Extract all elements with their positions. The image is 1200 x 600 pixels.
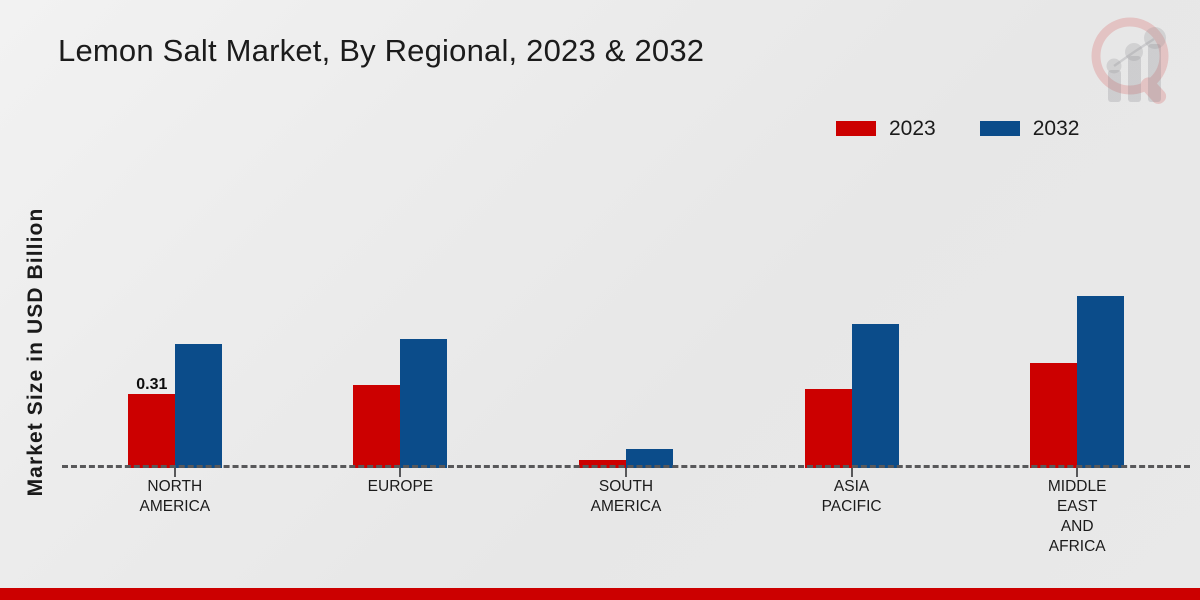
legend-item-2032[interactable]: 2032 (980, 118, 1080, 139)
legend-label-2023: 2023 (889, 118, 936, 139)
bar-group-europe: EUROPE (288, 165, 514, 468)
x-axis-baseline (62, 465, 1190, 468)
page-title: Lemon Salt Market, By Regional, 2023 & 2… (58, 33, 704, 69)
bar-group-south-america: SOUTH AMERICA (513, 165, 739, 468)
bar-2023-north-america[interactable] (128, 394, 175, 468)
market-research-future-logo (1078, 8, 1186, 112)
chart-canvas: Lemon Salt Market, By Regional, 2023 & 2… (0, 0, 1200, 600)
y-axis-title: Market Size in USD Billion (24, 162, 48, 542)
bottom-accent-stripe (0, 588, 1200, 600)
bars-north-america (128, 165, 222, 468)
bar-group-middle-east-and-africa: MIDDLE EAST AND AFRICA (964, 165, 1190, 468)
bars-middle-east-and-africa (1030, 165, 1124, 468)
legend-swatch-2032 (980, 121, 1020, 136)
bars-europe (353, 165, 447, 468)
plot-area: 0.31 NORTH AMERICA EUROPE SOUTH AMERICA (62, 165, 1190, 468)
bar-2023-asia-pacific[interactable] (805, 389, 852, 468)
x-label-south-america: SOUTH AMERICA (591, 477, 662, 517)
bars-asia-pacific (805, 165, 899, 468)
legend-label-2032: 2032 (1033, 118, 1080, 139)
bar-2032-north-america[interactable] (175, 344, 222, 468)
x-label-europe: EUROPE (368, 477, 433, 497)
x-tick-middle-east-and-africa (1076, 468, 1078, 477)
bar-2032-asia-pacific[interactable] (852, 324, 899, 468)
bar-group-asia-pacific: ASIA PACIFIC (739, 165, 965, 468)
legend-item-2023[interactable]: 2023 (836, 118, 936, 139)
bar-2032-europe[interactable] (400, 339, 447, 468)
x-tick-asia-pacific (851, 468, 853, 477)
x-tick-north-america (174, 468, 176, 477)
bars-south-america (579, 165, 673, 468)
bar-group-north-america: 0.31 NORTH AMERICA (62, 165, 288, 468)
x-label-middle-east-and-africa: MIDDLE EAST AND AFRICA (1048, 477, 1107, 557)
x-tick-south-america (625, 468, 627, 477)
value-label-north-america-2023: 0.31 (136, 376, 167, 394)
bar-2023-europe[interactable] (353, 385, 400, 468)
legend-swatch-2023 (836, 121, 876, 136)
x-label-asia-pacific: ASIA PACIFIC (822, 477, 882, 517)
bar-2032-middle-east-and-africa[interactable] (1077, 296, 1124, 468)
x-tick-europe (399, 468, 401, 477)
x-label-north-america: NORTH AMERICA (139, 477, 210, 517)
chart-legend: 2023 2032 (836, 118, 1079, 139)
bar-2023-middle-east-and-africa[interactable] (1030, 363, 1077, 468)
